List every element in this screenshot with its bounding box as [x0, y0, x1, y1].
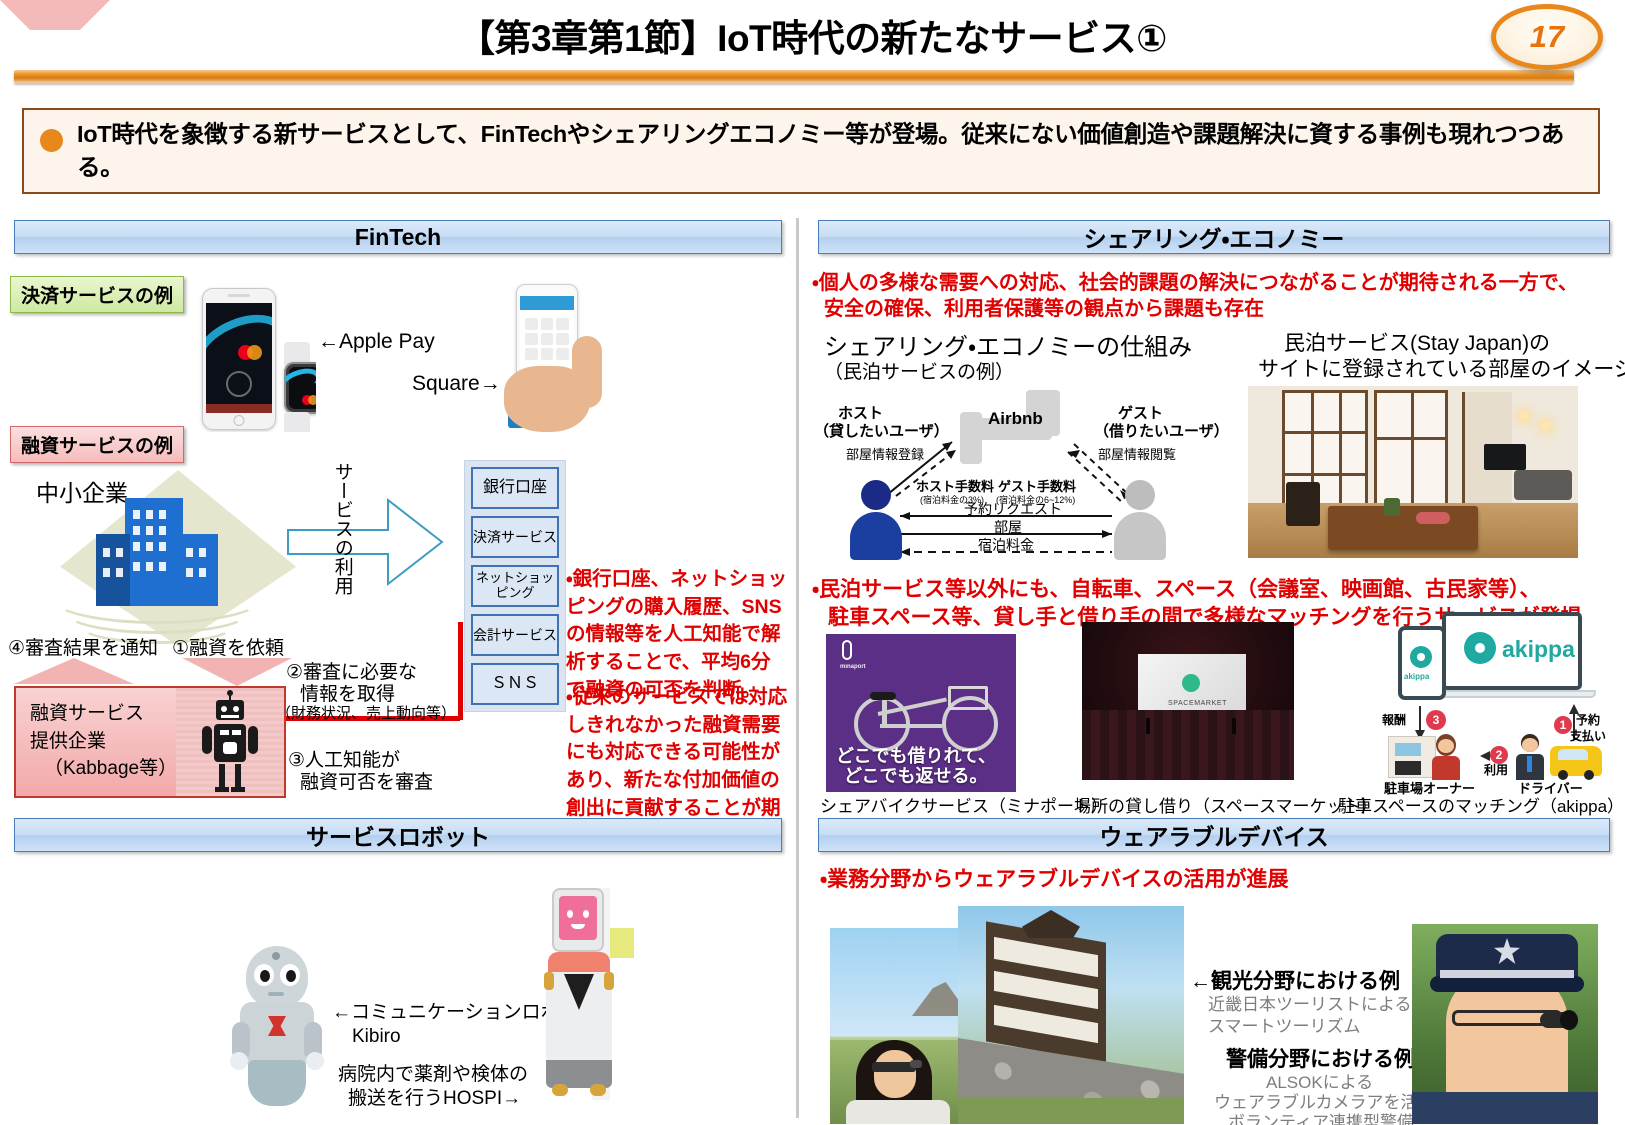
service-use-label: サービスの利用	[330, 462, 354, 595]
section-header-wearable-label: ウェアラブルデバイス	[1099, 818, 1328, 852]
loan-provider-box: 融資サービス 提供企業 （Kabbage等）	[14, 686, 286, 798]
sharing-note-mid-line1: ・民泊サービス等以外にも、自転車、スペース（会議室、映画館、古民家等）、	[812, 576, 1541, 604]
loan-provider-line3: （Kabbage等）	[30, 755, 177, 783]
section-header-fintech: FinTech	[14, 220, 782, 254]
poster-line2: どこでも返せる。	[844, 762, 987, 788]
title-divider-rule	[14, 70, 1574, 83]
sharing-note-top-line2: 安全の確保、利用者保護等の観点から課題も存在	[824, 296, 1264, 323]
loan-provider-line2: 提供企業	[30, 728, 177, 756]
flow-reserve-label: 予約リクエスト	[964, 500, 1062, 519]
tag-loan-example: 融資サービスの例	[10, 426, 184, 463]
tourism-sub1: 近畿日本ツーリストによる	[1208, 994, 1412, 1017]
akippa-step-3-badge: 3	[1426, 710, 1446, 730]
kibiro-robot-photo	[218, 946, 336, 1106]
section-header-wearable: ウェアラブルデバイス	[818, 818, 1610, 852]
stayjapan-caption-line1: 民泊サービス(Stay Japan)の	[1284, 330, 1550, 358]
driver-person-icon	[1512, 734, 1546, 780]
hospi-robot-photo	[540, 888, 636, 1100]
tourism-sub2: スマートツーリズム	[1208, 1016, 1361, 1039]
service-items-column: 銀行口座 決済サービス ネットショッピング 会計サービス ＳＮＳ	[464, 460, 566, 712]
airbnb-mechanism-diagram: Airbnb ホスト （貸したいユーザ） ゲスト （借りたいユーザ） 部屋情報登…	[812, 386, 1202, 556]
flow-fee-label: 宿泊料金	[978, 536, 1034, 555]
akippa-caption: 駐車スペースのマッチング（akippa）	[1338, 792, 1624, 817]
flow-room-label: 部屋	[994, 518, 1022, 537]
hospi-caption-line1: 病院内で薬剤や検体の	[338, 1062, 528, 1088]
minaport-brand-label: minaport	[840, 664, 866, 670]
loan-provider-line1: 融資サービス	[30, 700, 177, 728]
apple-pay-photo	[196, 286, 316, 432]
square-label: Square→	[412, 370, 501, 398]
spacemarket-cinema-photo: SPACEMARKET	[1082, 622, 1294, 780]
security-guard-photo	[1412, 924, 1598, 1124]
section-header-robot-label: サービスロボット	[306, 818, 490, 852]
spacemarket-brand-label: SPACEMARKET	[1168, 700, 1227, 707]
akippa-use-label: 利用	[1484, 762, 1508, 778]
loan-step-4-arrow-icon	[0, 0, 110, 39]
kibiro-caption-line2: Kibiro	[352, 1024, 401, 1050]
spacemarket-caption: 場所の貸し借り（スペースマーケット）	[1074, 792, 1377, 817]
castle-photo	[958, 906, 1184, 1124]
loan-step-3-line2: 融資可否を審査	[300, 770, 433, 796]
section-header-robot: サービスロボット	[14, 818, 782, 852]
page-number-text: 17	[1530, 19, 1564, 55]
lead-summary-text: IoT時代を象徴する新サービスとして、FinTechやシェアリングエコノミー等が…	[77, 118, 1580, 185]
mechanism-subtitle: （民泊サービスの例）	[824, 360, 1014, 386]
page-number-badge: 17	[1491, 4, 1603, 70]
section-header-sharing-label: シェアリング・エコノミー	[1084, 220, 1345, 254]
sme-label: 中小企業	[36, 478, 128, 509]
wearable-note: ・業務分野からウェアラブルデバイスの活用が進展	[820, 866, 1289, 894]
page-title: 【第3章第1節】IoT時代の新たなサービス①	[0, 8, 1625, 62]
section-header-sharing: シェアリング・エコノミー	[818, 220, 1610, 254]
square-reader-photo	[480, 280, 640, 432]
service-use-arrow	[286, 462, 446, 622]
service-item[interactable]: ＳＮＳ	[471, 663, 559, 705]
tag-payment-example: 決済サービスの例	[10, 276, 184, 313]
bullet-dot-icon	[40, 129, 63, 152]
column-divider	[796, 218, 799, 1118]
ai-robot-icon	[202, 700, 258, 792]
apple-pay-label: ←Apple Pay	[318, 328, 435, 356]
lead-summary-box: IoT時代を象徴する新サービスとして、FinTechやシェアリングエコノミー等が…	[22, 108, 1600, 194]
stayjapan-caption-line2: サイトに登録されている部屋のイメージ	[1258, 356, 1625, 384]
loan-step-2-line3: （財務状況、売上動向等）	[276, 704, 456, 724]
hospi-caption-line2: 搬送を行うHOSPI→	[348, 1086, 521, 1112]
car-icon	[1550, 746, 1602, 776]
service-item[interactable]: 会計サービス	[471, 614, 559, 656]
service-item[interactable]: 銀行口座	[471, 467, 559, 509]
host-person-icon	[848, 480, 904, 556]
akippa-diagram: akippa akippa 報酬 3 1 予約 支払い 2 利用	[1378, 608, 1608, 788]
parking-owner-icon	[1428, 734, 1462, 780]
akippa-pay-line2: 支払い	[1570, 728, 1606, 744]
security-sub3: ボランティア連携型警備	[1228, 1112, 1414, 1125]
sharebike-caption: シェアバイクサービス（ミナポート）	[820, 792, 1108, 817]
service-item[interactable]: 決済サービス	[471, 516, 559, 558]
stayjapan-room-photo	[1248, 386, 1578, 558]
guest-person-icon	[1112, 480, 1168, 556]
security-title: 警備分野における例→	[1226, 1046, 1436, 1074]
slide-root: 【第3章第1節】IoT時代の新たなサービス① 17 IoT時代を象徴する新サービ…	[0, 0, 1625, 1125]
section-header-fintech-label: FinTech	[355, 224, 441, 251]
sharing-note-top-line1: ・個人の多様な需要への対応、社会的課題の解決につながることが期待される一方で、	[812, 270, 1578, 297]
sharebike-poster-photo: minaport どこでも借りれて、 どこでも返せる。	[826, 634, 1016, 792]
akippa-pay-line1: 予約	[1576, 712, 1600, 728]
service-item[interactable]: ネットショッピング	[471, 565, 559, 607]
tourism-title: ←観光分野における例	[1190, 968, 1400, 996]
akippa-reward-label: 報酬	[1382, 712, 1406, 728]
